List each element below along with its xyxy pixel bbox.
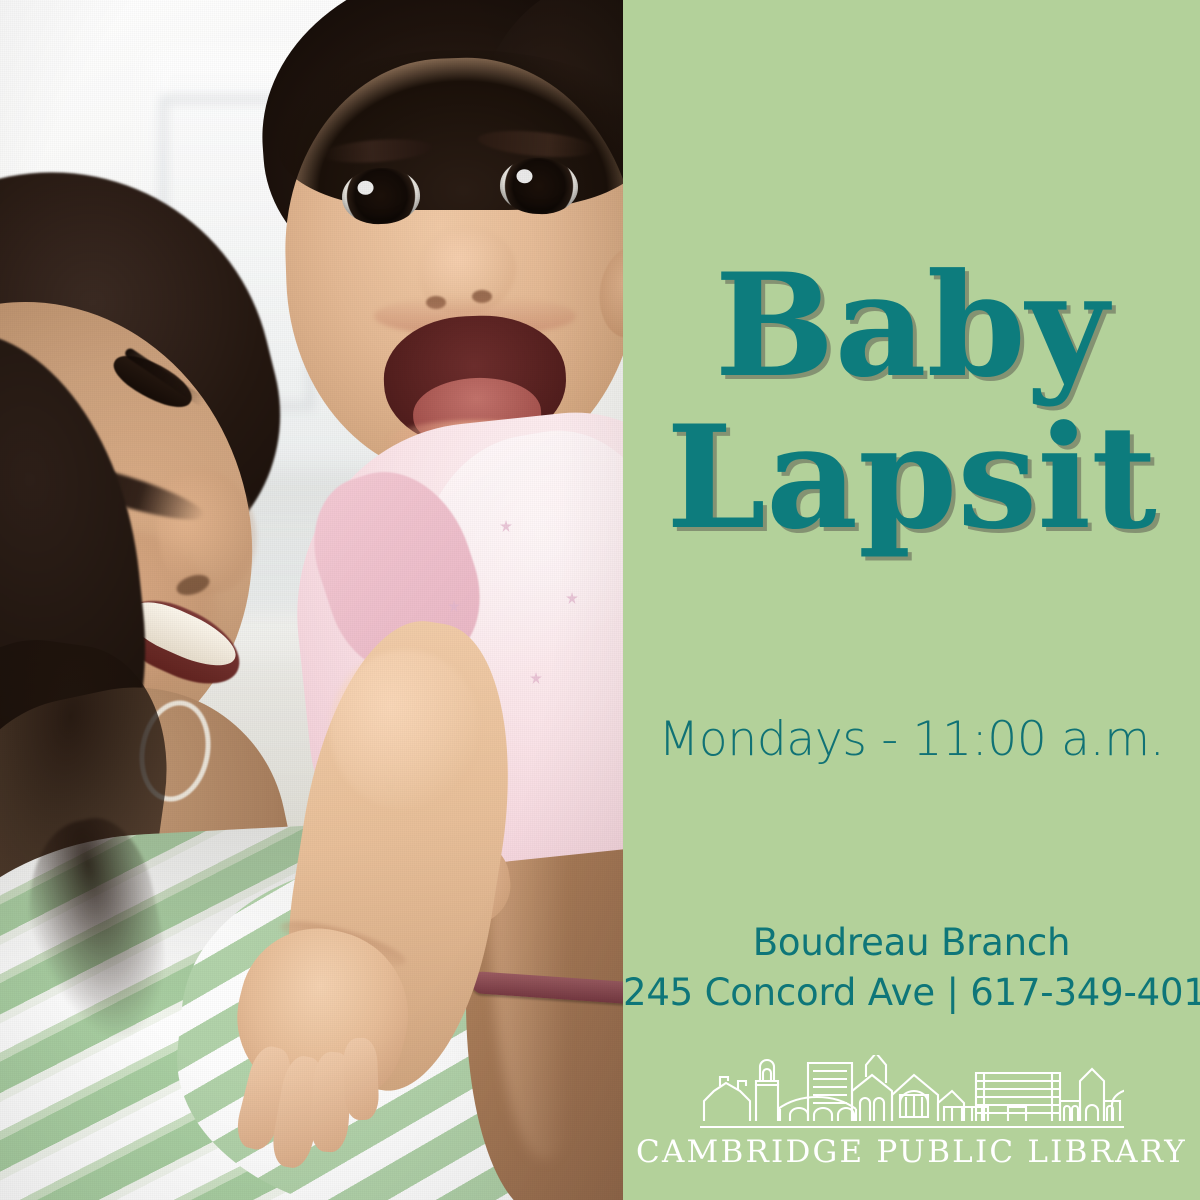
info-panel: Baby Lapsit Mondays - 11:00 a.m. Boudrea… [623, 0, 1200, 1200]
baby-finger [343, 1037, 380, 1120]
page-title: Baby Lapsit [623, 258, 1200, 547]
event-photo [0, 0, 623, 1200]
cambridge-skyline-icon [700, 1055, 1124, 1129]
location-block: Boudreau Branch 245 Concord Ave | 617-34… [623, 918, 1200, 1019]
baby-eye-glint-left [357, 180, 374, 195]
photo-stage [0, 0, 623, 1200]
library-logo: CAMBRIDGE PUBLIC LIBRARY [623, 1055, 1200, 1170]
library-wordmark: CAMBRIDGE PUBLIC LIBRARY [636, 1134, 1187, 1170]
title-line-1: Baby [623, 258, 1200, 396]
branch-name: Boudreau Branch [623, 918, 1200, 968]
baby-elbow [330, 650, 480, 810]
title-line-2: Lapsit [623, 410, 1200, 548]
baby-eye-glint-right [516, 169, 533, 184]
branch-address-phone: 245 Concord Ave | 617-349-4017 [623, 968, 1200, 1018]
baby-lapsit-poster: Baby Lapsit Mondays - 11:00 a.m. Boudrea… [0, 0, 1200, 1200]
schedule-text: Mondays - 11:00 a.m. [623, 712, 1200, 767]
